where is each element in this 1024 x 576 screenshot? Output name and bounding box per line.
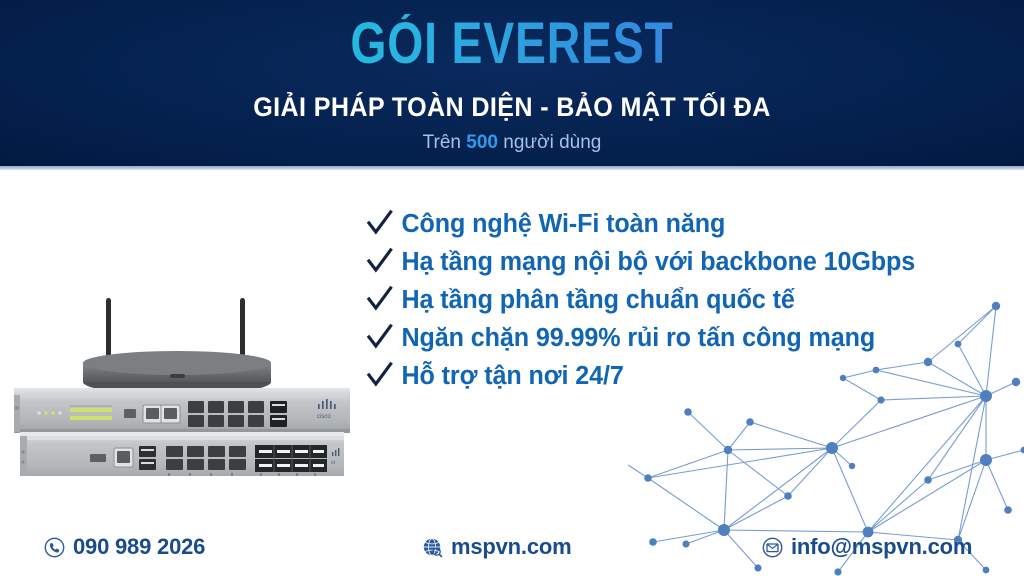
feature-list: Công nghệ Wi-Fi toàn năng Hạ tầng mạng n… (366, 206, 976, 396)
check-mark-icon (366, 322, 394, 352)
page-title: GÓI EVEREST (102, 14, 921, 74)
check-mark-icon (366, 246, 394, 276)
feature-item-4: Ngăn chặn 99.99% rủi ro tấn công mạng (366, 320, 967, 357)
feature-item-label: Hạ tầng mạng nội bộ với backbone 10Gbps (401, 248, 915, 276)
svg-text:cisco: cisco (317, 414, 331, 420)
feature-item-5: Hỗ trợ tận nơi 24/7 (366, 358, 967, 395)
contact-phone-label: 090 989 2026 (73, 534, 205, 560)
check-mark-icon (366, 208, 394, 238)
network-device-image: cisco (12, 296, 352, 476)
feature-item-label: Công nghệ Wi-Fi toàn năng (401, 210, 725, 238)
promo-poster: GÓI EVEREST GIẢI PHÁP TOÀN DIỆN - BẢO MẬ… (0, 0, 1024, 576)
header-subtitle: GIẢI PHÁP TOÀN DIỆN - BẢO MẬT TỐI ĐA (36, 92, 988, 122)
phone-icon (44, 537, 65, 558)
check-mark-icon (366, 284, 394, 314)
feature-item-label: Hỗ trợ tận nơi 24/7 (401, 362, 623, 390)
feature-item-label: Hạ tầng phân tầng chuẩn quốc tế (401, 286, 794, 314)
contact-email[interactable]: info@mspvn.com (762, 534, 972, 560)
feature-item-2: Hạ tầng mạng nội bộ với backbone 10Gbps (366, 244, 967, 281)
header-tagline: Trên 500 người dùng (0, 132, 1024, 154)
feature-item-label: Ngăn chặn 99.99% rủi ro tấn công mạng (401, 324, 875, 352)
svg-text:ci: ci (331, 460, 335, 466)
contact-website-label: mspvn.com (451, 534, 571, 560)
contact-email-label: info@mspvn.com (791, 534, 972, 560)
tagline-suffix: người dùng (498, 132, 601, 153)
tagline-prefix: Trên (423, 132, 467, 153)
tagline-number: 500 (466, 132, 498, 153)
header-banner: GÓI EVEREST GIẢI PHÁP TOÀN DIỆN - BẢO MẬ… (0, 0, 1024, 166)
feature-item-3: Hạ tầng phân tầng chuẩn quốc tế (366, 282, 967, 319)
contact-phone[interactable]: 090 989 2026 (44, 534, 205, 560)
feature-item-1: Công nghệ Wi-Fi toàn năng (366, 206, 967, 243)
envelope-icon (762, 537, 783, 558)
check-mark-icon (366, 360, 394, 390)
contact-website[interactable]: mspvn.com (422, 534, 571, 560)
globe-icon (422, 537, 443, 558)
